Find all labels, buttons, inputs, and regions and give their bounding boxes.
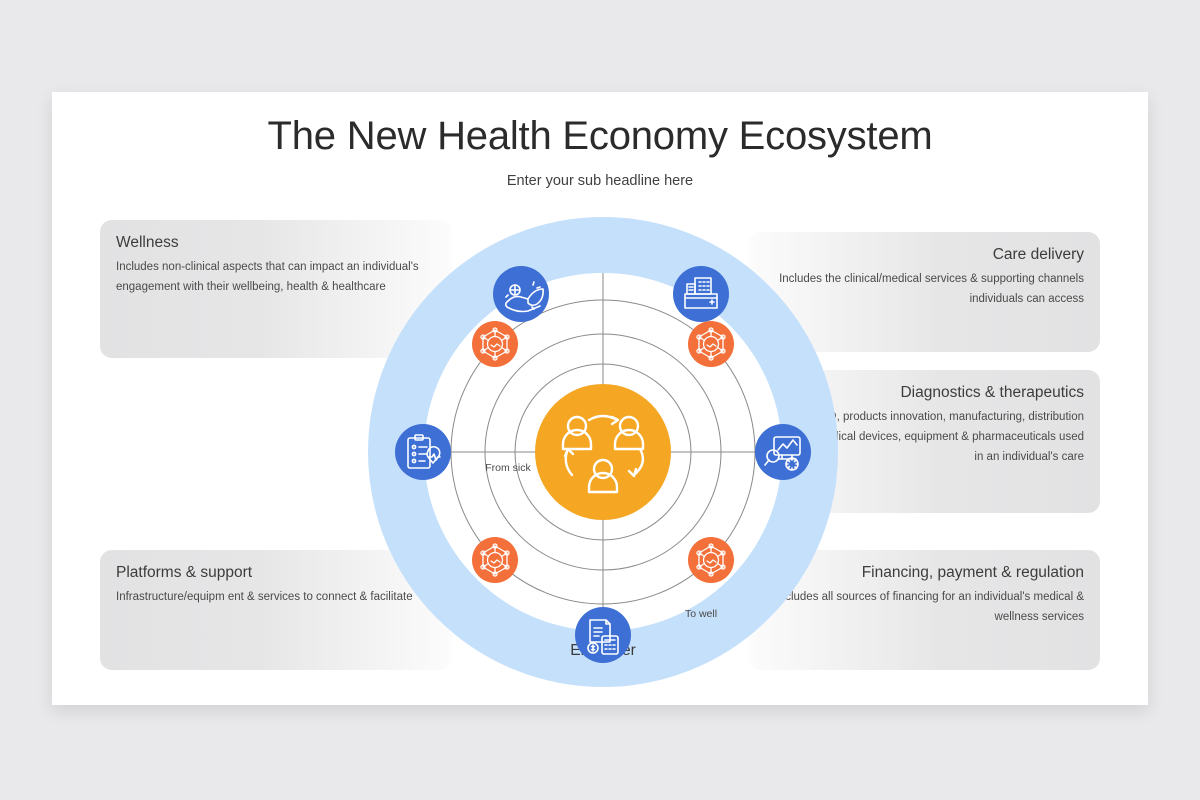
- ring-label-from-sick: From sick: [485, 462, 531, 474]
- diagnostics-node[interactable]: [755, 424, 811, 480]
- ring-label-to-well: To well: [685, 608, 717, 620]
- network-node-ne[interactable]: [688, 321, 734, 367]
- wellness-node[interactable]: [493, 266, 549, 322]
- platforms-node[interactable]: [395, 424, 451, 480]
- center-node[interactable]: [535, 384, 671, 520]
- ecosystem-diagram: Government Employer From sick To well: [368, 217, 838, 687]
- care-delivery-node[interactable]: [673, 266, 729, 322]
- network-node-nw[interactable]: [472, 321, 518, 367]
- page-subtitle: Enter your sub headline here: [52, 173, 1148, 189]
- financing-node[interactable]: [575, 607, 631, 663]
- network-node-sw[interactable]: [472, 537, 518, 583]
- network-node-se[interactable]: [688, 537, 734, 583]
- slide-canvas: The New Health Economy Ecosystem Enter y…: [52, 92, 1148, 705]
- page-title: The New Health Economy Ecosystem: [52, 114, 1148, 159]
